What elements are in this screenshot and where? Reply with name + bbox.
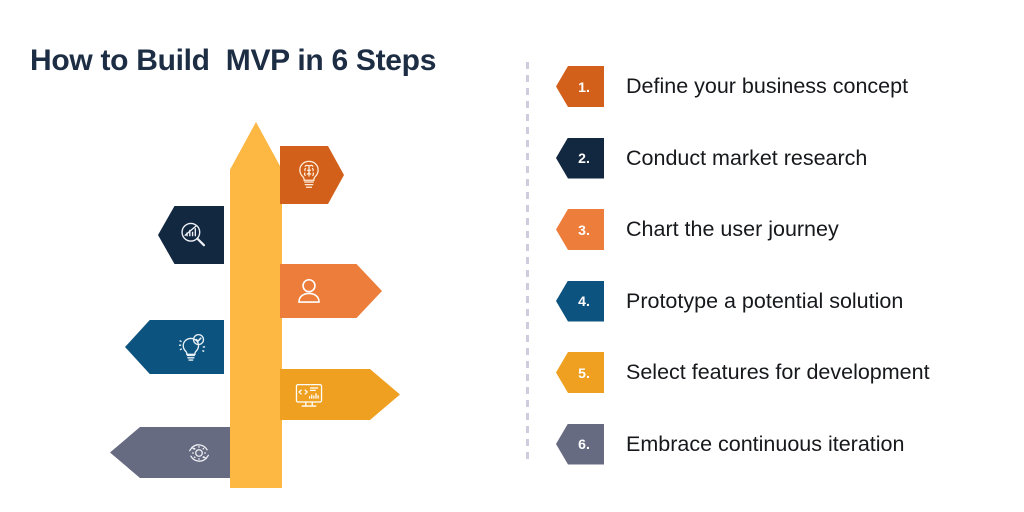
user-person-icon — [292, 274, 326, 308]
step-label-4: Prototype a potential solution — [626, 275, 903, 327]
step-number-label: 2. — [578, 150, 590, 166]
step-label-6: Embrace continuous iteration — [626, 418, 904, 470]
badge-select-features[interactable] — [280, 369, 400, 420]
step-number-label: 1. — [578, 79, 590, 95]
lightbulb-check-icon — [174, 329, 210, 365]
list-item[interactable]: 1. Define your business concept — [556, 60, 1024, 132]
badge-business-concept[interactable] — [280, 146, 344, 204]
step-number-label: 6. — [578, 436, 590, 452]
step-label-5: Select features for development — [626, 346, 930, 398]
step-label-3: Chart the user journey — [626, 203, 839, 255]
badge-market-research[interactable] — [158, 206, 224, 264]
infographic-canvas: How to Build MVP in 6 Steps — [0, 0, 1024, 512]
brain-lightbulb-icon — [292, 158, 326, 192]
arrow-diagram — [0, 0, 520, 512]
list-item[interactable]: 3. Chart the user journey — [556, 203, 1024, 275]
monitor-code-chart-icon — [292, 378, 326, 412]
step-number-badge-2: 2. — [556, 138, 604, 179]
badge-user-journey[interactable] — [280, 264, 382, 318]
step-number-badge-5: 5. — [556, 352, 604, 393]
list-item[interactable]: 6. Embrace continuous iteration — [556, 418, 1024, 490]
list-item[interactable]: 5. Select features for development — [556, 346, 1024, 418]
step-number-badge-3: 3. — [556, 209, 604, 250]
step-number-badge-6: 6. — [556, 424, 604, 465]
step-number-badge-4: 4. — [556, 281, 604, 322]
step-number-label: 3. — [578, 222, 590, 238]
gear-refresh-icon — [182, 436, 216, 470]
list-item[interactable]: 4. Prototype a potential solution — [556, 275, 1024, 347]
central-up-arrow — [230, 122, 282, 488]
magnifier-chart-icon — [176, 218, 210, 252]
step-number-label: 4. — [578, 293, 590, 309]
step-list: 1. Define your business concept 2. Condu… — [556, 60, 1024, 489]
step-number-badge-1: 1. — [556, 66, 604, 107]
list-item[interactable]: 2. Conduct market research — [556, 132, 1024, 204]
badge-iteration[interactable] — [110, 427, 230, 478]
step-label-2: Conduct market research — [626, 132, 867, 184]
vertical-dashed-divider — [526, 62, 529, 460]
badge-prototype[interactable] — [125, 320, 224, 374]
step-number-label: 5. — [578, 365, 590, 381]
step-label-1: Define your business concept — [626, 60, 908, 112]
